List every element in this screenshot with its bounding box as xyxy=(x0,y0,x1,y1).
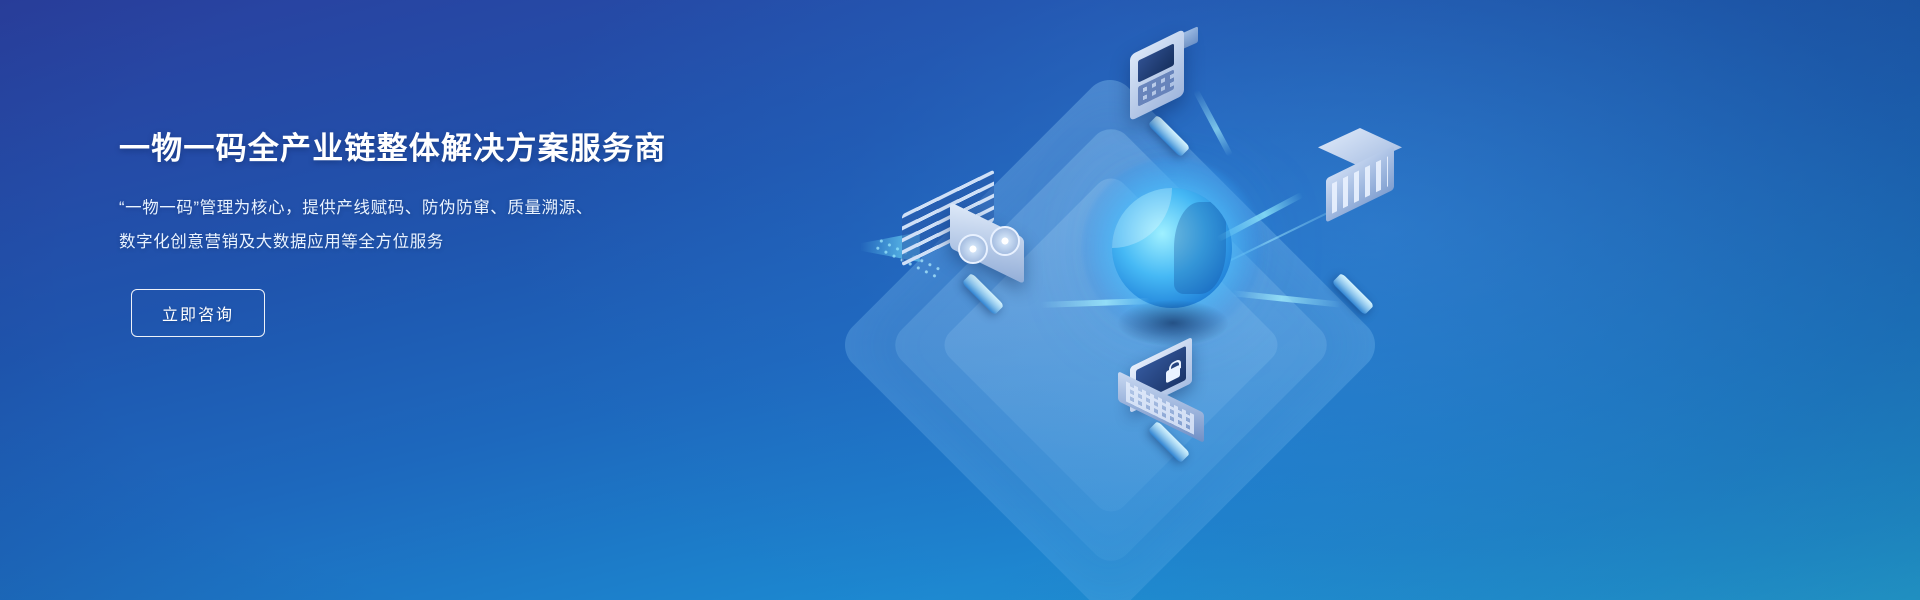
cooling-fan-icon xyxy=(990,226,1020,256)
hero-illustration xyxy=(860,0,1500,600)
hero-banner: 一物一码全产业链整体解决方案服务商 “一物一码”管理为核心，提供产线赋码、防伪防… xyxy=(0,0,1920,600)
page-title: 一物一码全产业链整体解决方案服务商 xyxy=(119,130,759,169)
laptop-security-icon xyxy=(1112,352,1232,462)
core-segment-dark xyxy=(1174,202,1226,294)
glowing-sphere-core-icon xyxy=(1112,188,1232,308)
bank-building-icon xyxy=(1312,128,1422,248)
cooling-fan-icon xyxy=(958,234,988,264)
consult-now-button[interactable]: 立即咨询 xyxy=(131,289,265,337)
pos-terminal-icon xyxy=(1112,30,1202,150)
hero-copy: 一物一码全产业链整体解决方案服务商 “一物一码”管理为核心，提供产线赋码、防伪防… xyxy=(119,130,759,337)
server-rack-icon xyxy=(898,186,1048,316)
core-shadow xyxy=(1118,300,1228,346)
subtitle-line-1: “一物一码”管理为核心，提供产线赋码、防伪防窜、质量溯源、 xyxy=(119,191,759,225)
subtitle-line-2: 数字化创意营销及大数据应用等全方位服务 xyxy=(119,225,759,259)
core-segment-light xyxy=(1112,188,1172,248)
